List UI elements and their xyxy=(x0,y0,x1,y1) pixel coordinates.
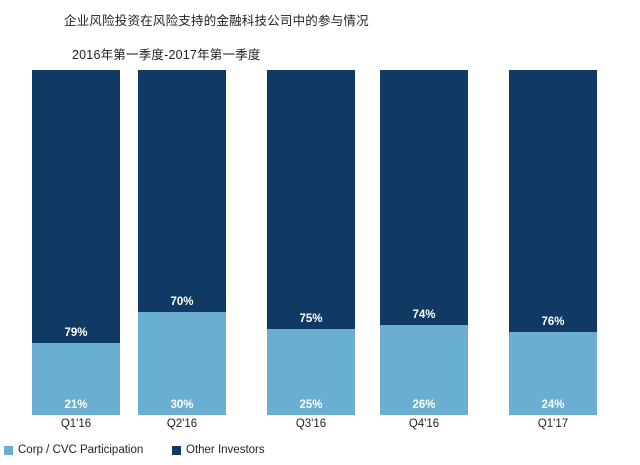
bar-stack: 75%25% xyxy=(267,70,355,415)
bar-segment-corp-cvc-participation: 24% xyxy=(509,332,597,415)
x-tick-label: Q2'16 xyxy=(142,418,222,430)
bar-segment-other-investors: 74% xyxy=(380,70,468,325)
page-title: 企业风险投资在风险支持的金融科技公司中的参与情况 xyxy=(64,10,369,29)
bar-stack: 70%30% xyxy=(138,70,226,415)
chart-legend: Corp / CVC ParticipationOther Investors xyxy=(4,444,640,462)
x-tick-label: Q4'16 xyxy=(384,418,464,430)
bar-segment-label: 74% xyxy=(380,309,468,321)
legend-item[interactable]: Other Investors xyxy=(172,444,265,456)
bar-segment-other-investors: 79% xyxy=(32,70,120,343)
bar-segment-label: 30% xyxy=(138,399,226,411)
bar-segment-corp-cvc-participation: 21% xyxy=(32,343,120,415)
bar-stack: 76%24% xyxy=(509,70,597,415)
bar-segment-label: 26% xyxy=(380,399,468,411)
x-axis-tick-labels: Q1'16Q2'16Q3'16Q4'16Q1'17 xyxy=(20,415,620,437)
bar-segment-label: 79% xyxy=(32,327,120,339)
x-tick-label: Q1'16 xyxy=(36,418,116,430)
x-tick-label: Q1'17 xyxy=(513,418,593,430)
bar-segment-label: 75% xyxy=(267,313,355,325)
bar-segment-corp-cvc-participation: 26% xyxy=(380,325,468,415)
legend-item[interactable]: Corp / CVC Participation xyxy=(4,444,143,456)
bar-segment-label: 24% xyxy=(509,399,597,411)
plot-area: 79%21%70%30%75%25%74%26%76%24% xyxy=(20,70,620,415)
bar-segment-label: 70% xyxy=(138,296,226,308)
bar-segment-other-investors: 70% xyxy=(138,70,226,312)
legend-color-swatch xyxy=(4,446,13,455)
chart-subtitle: 2016年第一季度-2017年第一季度 xyxy=(72,44,261,63)
bar-segment-other-investors: 76% xyxy=(509,70,597,332)
legend-color-swatch xyxy=(172,446,181,455)
bar-segment-label: 76% xyxy=(509,316,597,328)
legend-item-label: Other Investors xyxy=(186,444,265,456)
bar-segment-label: 25% xyxy=(267,399,355,411)
bar-segment-other-investors: 75% xyxy=(267,70,355,329)
legend-item-label: Corp / CVC Participation xyxy=(18,444,143,456)
x-tick-label: Q3'16 xyxy=(271,418,351,430)
bar-segment-corp-cvc-participation: 25% xyxy=(267,329,355,415)
bar-segment-corp-cvc-participation: 30% xyxy=(138,312,226,416)
bar-stack: 74%26% xyxy=(380,70,468,415)
chart-page: 企业风险投资在风险支持的金融科技公司中的参与情况 2016年第一季度-2017年… xyxy=(0,0,640,465)
bar-segment-label: 21% xyxy=(32,399,120,411)
bar-stack: 79%21% xyxy=(32,70,120,415)
